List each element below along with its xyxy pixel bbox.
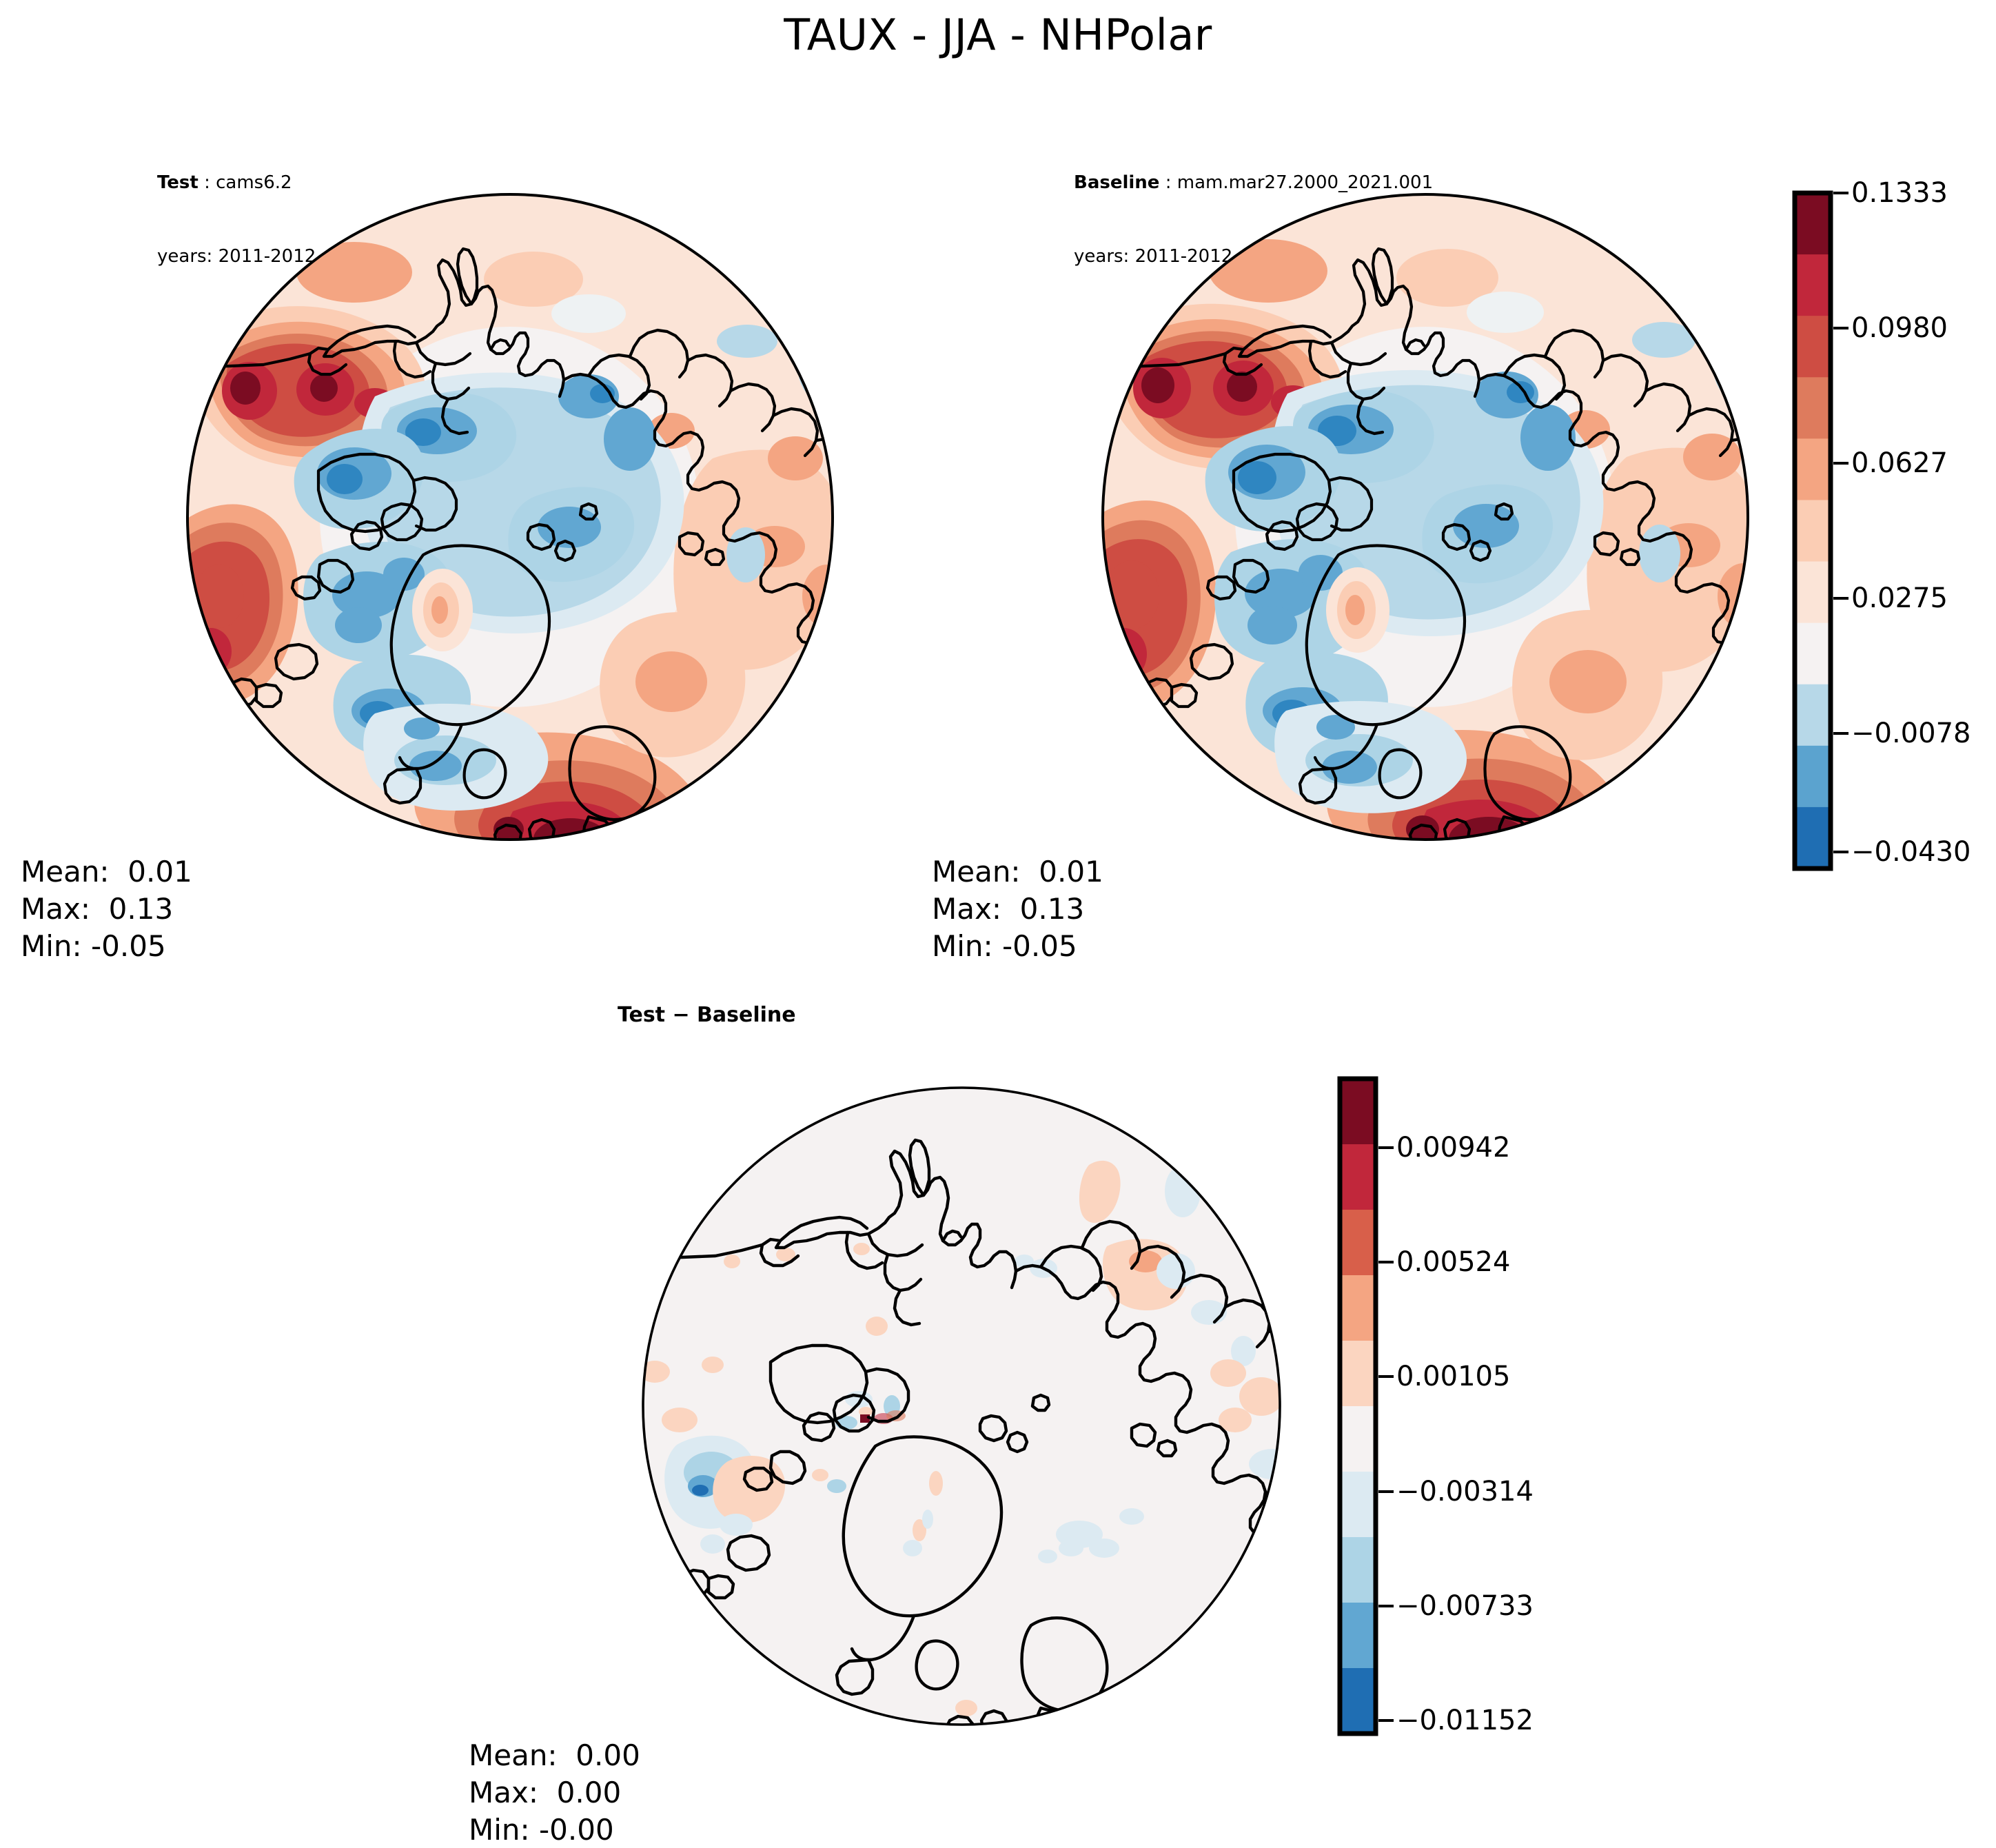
colorbar-band xyxy=(1795,623,1831,685)
colorbar-band xyxy=(1340,1079,1376,1145)
colorbar-tick xyxy=(1833,851,1849,853)
colorbar-tick-label: −0.00314 xyxy=(1396,1476,1534,1507)
colorbar-tick xyxy=(1378,1490,1394,1493)
figure-canvas: TAUX - JJA - NHPolar Test : cams6.2 year… xyxy=(0,0,1996,1838)
colorbar-difference-swatches xyxy=(1337,1079,1378,1734)
stats-baseline: Mean: 0.01 Max: 0.13 Min: -0.05 xyxy=(932,853,1103,964)
colorbar-top[interactable]: 0.13330.09800.06270.0275−0.0078−0.0430 xyxy=(1792,193,1992,869)
colorbar-band xyxy=(1795,562,1831,624)
difference-panel-title: Test − Baseline xyxy=(618,1003,796,1027)
colorbar-tick xyxy=(1833,597,1849,600)
colorbar-band xyxy=(1795,684,1831,747)
colorbar-band xyxy=(1795,438,1831,500)
colorbar-tick-label: 0.0627 xyxy=(1851,447,1948,479)
colorbar-tick xyxy=(1378,1719,1394,1722)
colorbar-band xyxy=(1340,1275,1376,1341)
map-panel-difference xyxy=(613,1062,1310,1751)
polar-map-difference-svg xyxy=(613,1062,1310,1751)
colorbar-tick xyxy=(1833,732,1849,735)
stats-test: Mean: 0.01 Max: 0.13 Min: -0.05 xyxy=(21,853,192,964)
colorbar-band xyxy=(1795,316,1831,378)
colorbar-band xyxy=(1340,1144,1376,1210)
colorbar-tick-label: 0.00524 xyxy=(1396,1246,1510,1278)
colorbar-band xyxy=(1795,746,1831,808)
contour-field-test xyxy=(147,169,919,875)
colorbar-band xyxy=(1340,1406,1376,1472)
contour-field-difference xyxy=(613,1062,1310,1751)
colorbar-tick-label: 0.0980 xyxy=(1851,312,1948,344)
colorbar-tick xyxy=(1378,1261,1394,1263)
colorbar-tick-label: −0.00733 xyxy=(1396,1590,1534,1622)
colorbar-tick-label: −0.0430 xyxy=(1851,836,1970,868)
polar-map-test-svg xyxy=(147,169,919,865)
map-panel-baseline xyxy=(1063,169,1835,865)
colorbar-tick xyxy=(1378,1605,1394,1607)
colorbar-band xyxy=(1340,1472,1376,1538)
colorbar-band xyxy=(1795,193,1831,255)
colorbar-tick xyxy=(1833,192,1849,194)
polar-map-baseline-svg xyxy=(1063,169,1835,865)
map-panel-test xyxy=(147,169,919,865)
colorbar-difference[interactable]: 0.009420.005240.00105−0.00314−0.00733−0.… xyxy=(1337,1079,1544,1740)
colorbar-band xyxy=(1795,807,1831,869)
colorbar-tick-label: 0.00105 xyxy=(1396,1361,1510,1392)
colorbar-band xyxy=(1795,500,1831,562)
colorbar-band xyxy=(1340,1210,1376,1276)
page-title: TAUX - JJA - NHPolar xyxy=(0,10,1996,60)
colorbar-tick-label: −0.0078 xyxy=(1851,718,1970,749)
colorbar-tick xyxy=(1833,462,1849,465)
colorbar-top-swatches xyxy=(1792,193,1833,869)
colorbar-band xyxy=(1340,1537,1376,1603)
colorbar-band xyxy=(1340,1668,1376,1734)
colorbar-tick xyxy=(1378,1146,1394,1149)
colorbar-tick xyxy=(1833,327,1849,329)
colorbar-band xyxy=(1795,254,1831,316)
contour-field-baseline xyxy=(1061,169,1835,878)
stats-difference: Mean: 0.00 Max: 0.00 Min: -0.00 xyxy=(469,1737,640,1848)
colorbar-tick xyxy=(1378,1375,1394,1378)
colorbar-band xyxy=(1340,1603,1376,1669)
colorbar-tick-label: 0.1333 xyxy=(1851,177,1948,209)
colorbar-band xyxy=(1795,377,1831,439)
colorbar-tick-label: 0.0275 xyxy=(1851,582,1948,614)
colorbar-band xyxy=(1340,1341,1376,1407)
colorbar-tick-label: 0.00942 xyxy=(1396,1132,1510,1164)
colorbar-tick-label: −0.01152 xyxy=(1396,1705,1534,1736)
